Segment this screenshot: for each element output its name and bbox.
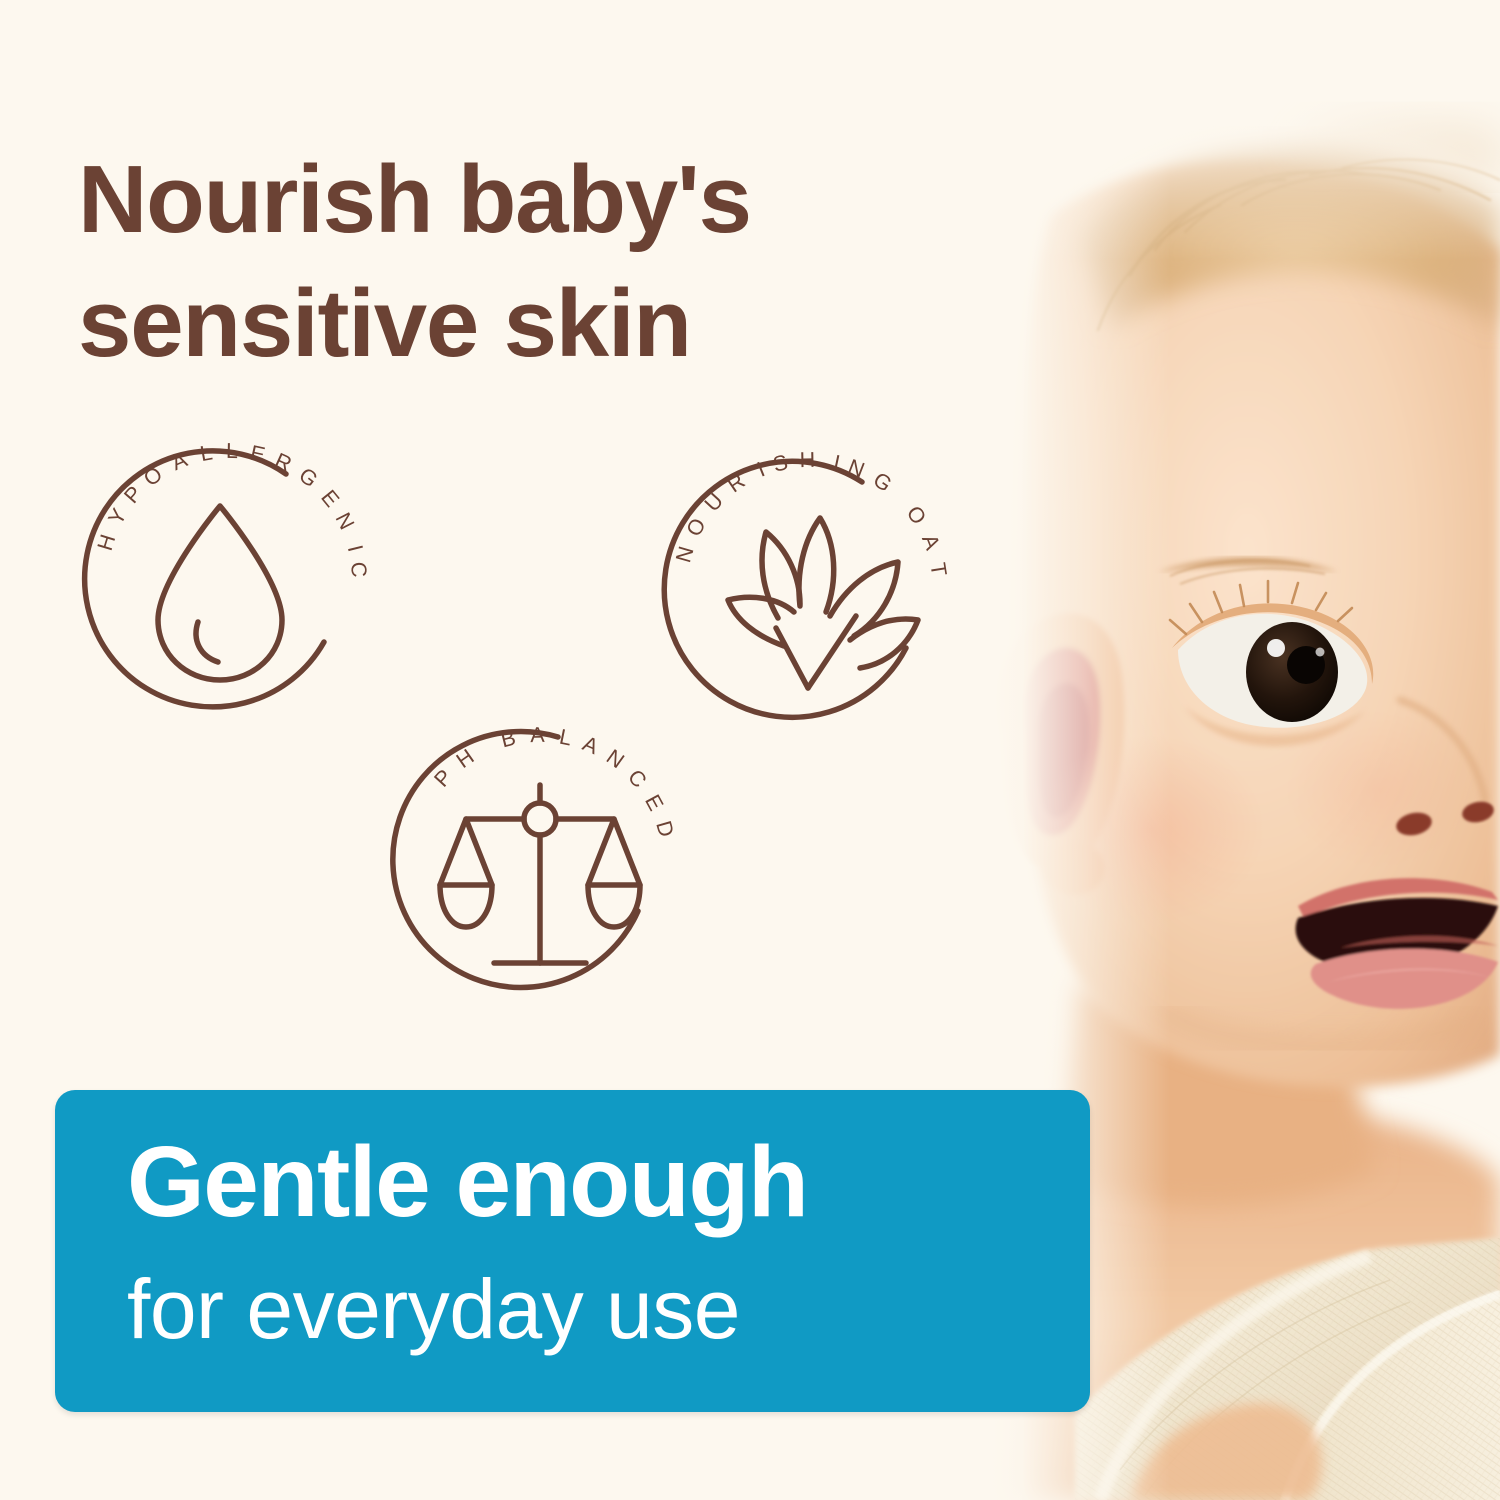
svg-text:G: G — [869, 467, 897, 497]
svg-text:R: R — [271, 448, 296, 477]
svg-text:I: I — [343, 543, 368, 555]
badge-label-hypoallergenic: H Y P O A L L E R G E N I C — [92, 439, 371, 579]
svg-text:Y: Y — [103, 504, 131, 529]
svg-text:D: D — [652, 818, 680, 840]
badge-label-nourishing-oat: N O U R I S H I N G O A T — [671, 448, 952, 579]
banner-headline: Gentle enough — [127, 1132, 808, 1232]
svg-text:H: H — [92, 531, 120, 553]
svg-text:E: E — [316, 485, 344, 512]
badge-hypoallergenic: H Y P O A L L E R G E N I C — [80, 430, 380, 730]
balance-scale-icon — [440, 785, 640, 963]
svg-text:C: C — [346, 561, 371, 579]
svg-text:N: N — [602, 744, 629, 773]
svg-text:U: U — [700, 488, 729, 516]
svg-text:A: A — [530, 723, 545, 747]
svg-text:O: O — [902, 501, 932, 529]
svg-text:S: S — [771, 450, 791, 477]
svg-text:A: A — [579, 731, 602, 759]
svg-text:L: L — [198, 440, 215, 466]
badge-ring-arc — [393, 731, 638, 987]
banner-subline: for everyday use — [127, 1267, 740, 1351]
svg-text:E: E — [640, 791, 668, 816]
svg-text:N: N — [331, 509, 360, 534]
water-drop-icon — [158, 506, 282, 680]
badge-nourishing-oat: N O U R I S H I N G O A T — [660, 440, 960, 740]
svg-text:L: L — [557, 724, 574, 750]
page-title: Nourish baby's sensitive skin — [78, 138, 958, 386]
headline-line-1: Nourish baby's — [78, 138, 958, 262]
promo-banner-canvas: Nourish baby's sensitive skin H Y P O A … — [0, 0, 1500, 1500]
svg-text:T: T — [926, 561, 952, 578]
svg-text:G: G — [295, 463, 323, 493]
svg-text:N: N — [671, 543, 699, 565]
headline-line-2: sensitive skin — [78, 262, 958, 386]
svg-text:H: H — [799, 448, 816, 472]
gentle-claim-banner: Gentle enough for everyday use — [55, 1090, 1090, 1412]
svg-text:L: L — [226, 439, 239, 463]
svg-text:C: C — [623, 765, 652, 793]
svg-text:N: N — [845, 454, 869, 482]
svg-text:O: O — [139, 461, 167, 491]
badge-ph-balanced: P H B A L A N C E D — [390, 715, 690, 1015]
oat-sprig-icon — [728, 518, 918, 688]
svg-text:A: A — [917, 531, 945, 554]
feature-badge-group: H Y P O A L L E R G E N I C — [0, 425, 1030, 1065]
